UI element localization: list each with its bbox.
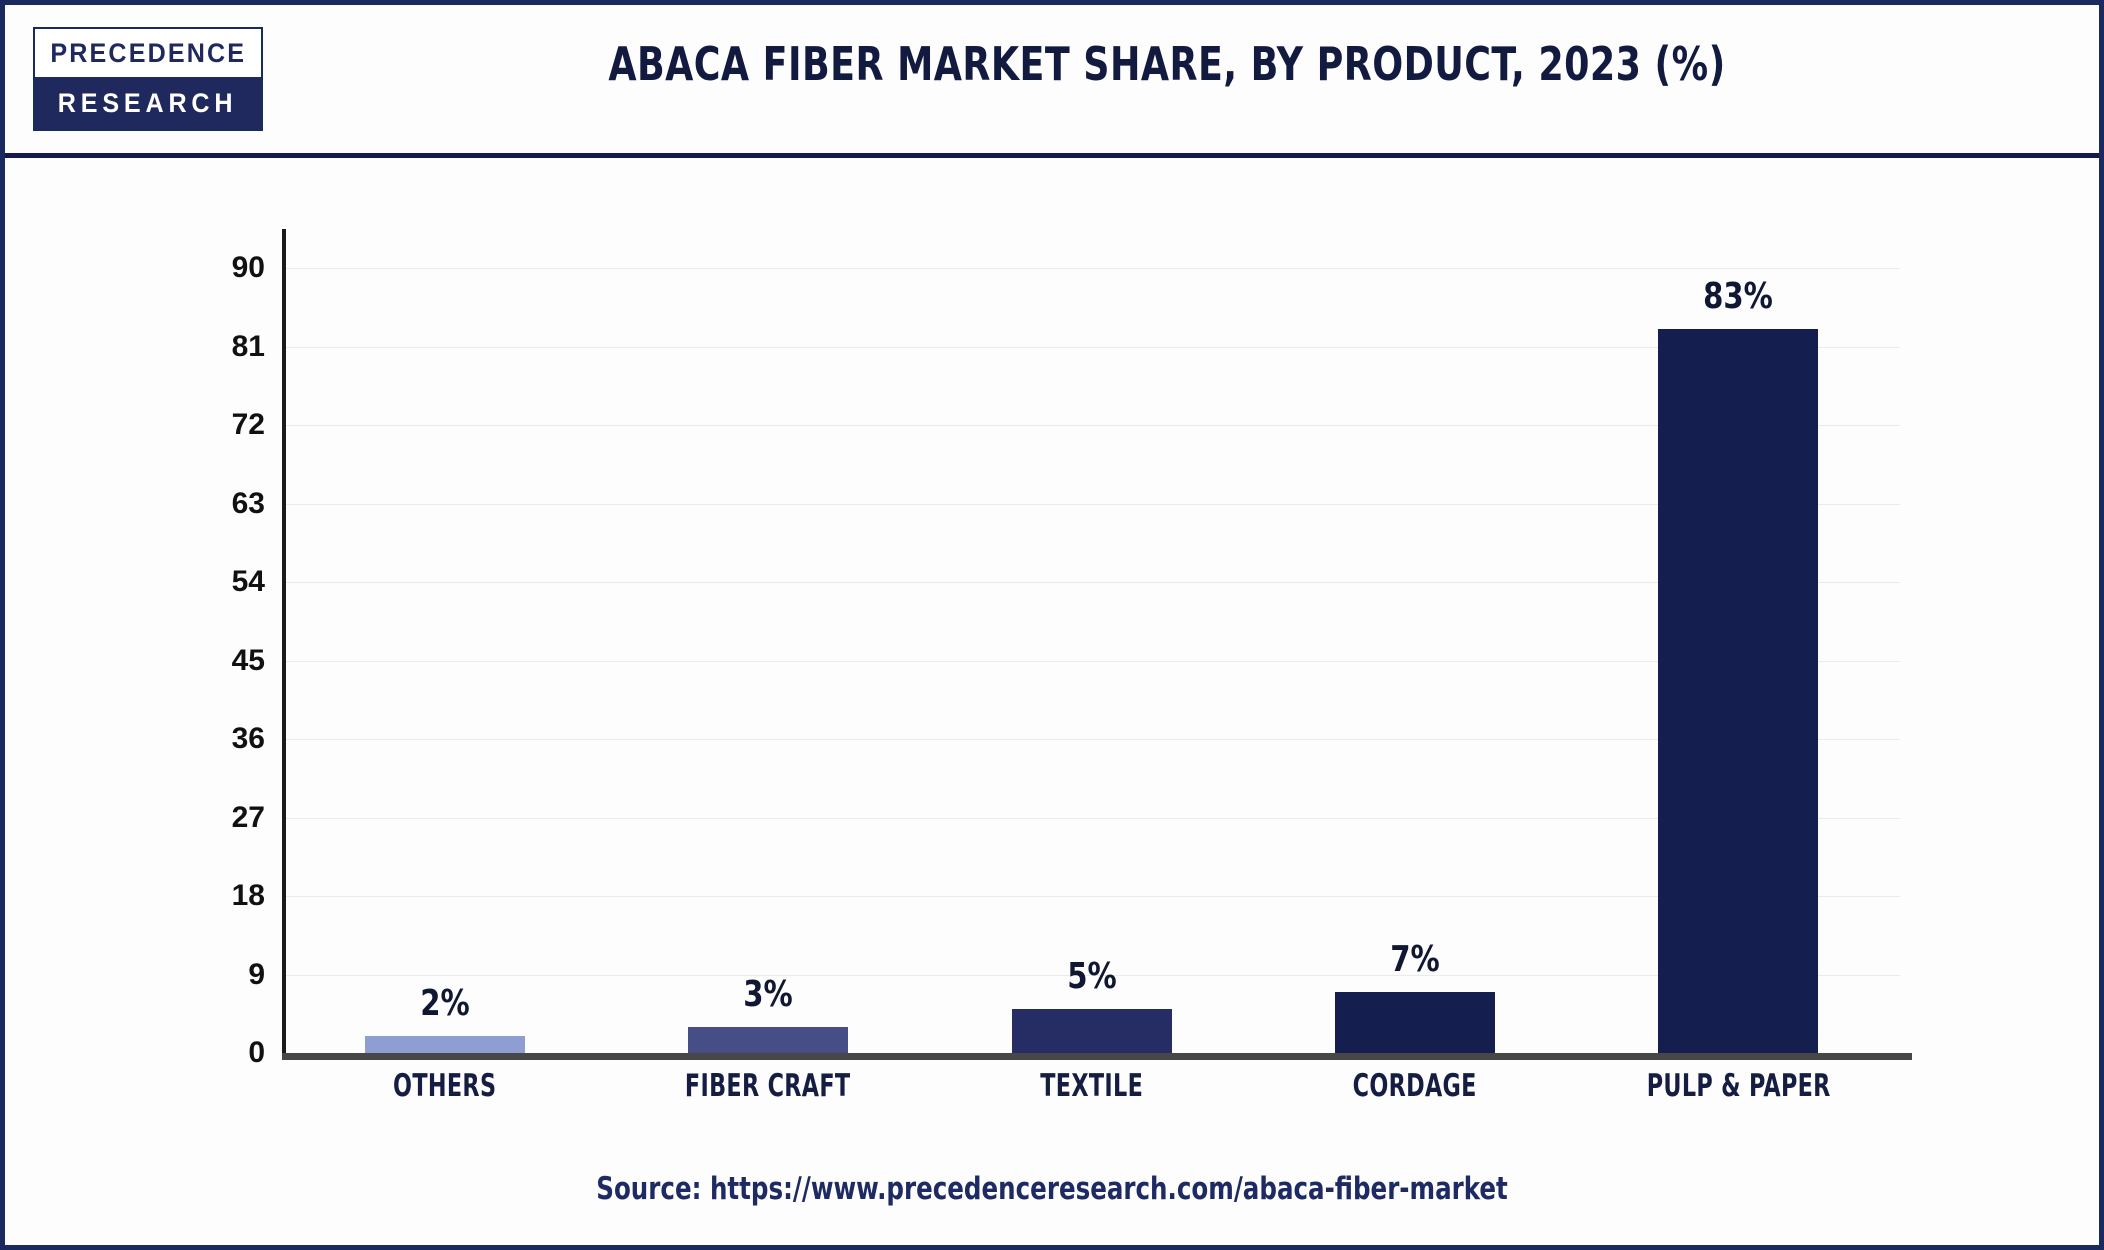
logo-precedence-text: PRECEDENCE — [50, 38, 246, 69]
logo-line-precedence: PRECEDENCE — [35, 29, 261, 77]
x-axis-label-others: OTHERS — [315, 1068, 574, 1104]
y-axis-tick-label: 36 — [145, 722, 265, 756]
bar-slot: 5% — [930, 229, 1253, 1053]
source-caption: Source: https://www.precedenceresearch.c… — [131, 1171, 1974, 1207]
bar-value-label: 2% — [420, 983, 469, 1024]
chart-header: PRECEDENCE RESEARCH ABACA FIBER MARKET S… — [5, 5, 2099, 158]
x-axis-category-labels: OTHERSFIBER CRAFTTEXTILECORDAGEPULP & PA… — [283, 1068, 1900, 1104]
bar-textile[interactable]: 5% — [1012, 1009, 1172, 1053]
y-axis-tick-label: 45 — [145, 644, 265, 678]
y-axis-tick-label: 27 — [145, 801, 265, 835]
x-axis-line — [282, 1053, 1912, 1060]
x-axis-label-textile: TEXTILE — [962, 1068, 1221, 1104]
bar-value-label: 7% — [1390, 939, 1439, 980]
bar-value-label: 3% — [743, 974, 792, 1015]
precedence-research-logo: PRECEDENCE RESEARCH — [33, 27, 263, 131]
logo-line-research: RESEARCH — [35, 77, 261, 129]
bar-slot: 7% — [1253, 229, 1576, 1053]
bar-slot: 83% — [1577, 229, 1900, 1053]
x-axis-label-cordage: CORDAGE — [1286, 1068, 1545, 1104]
y-axis-tick-label: 90 — [145, 251, 265, 285]
plot-region: 09182736455463728190 2%3%5%7%83% OTHERSF… — [5, 158, 2099, 1250]
x-axis-label-pulp-paper: PULP & PAPER — [1609, 1068, 1868, 1104]
logo-research-text: RESEARCH — [58, 88, 238, 119]
bar-slot: 2% — [283, 229, 606, 1053]
bar-value-label: 5% — [1067, 956, 1116, 997]
y-axis-tick-label: 54 — [145, 565, 265, 599]
page-title: ABACA FIBER MARKET SHARE, BY PRODUCT, 20… — [373, 37, 1961, 91]
y-axis-tick-label: 0 — [145, 1036, 265, 1070]
y-axis-tick-label: 63 — [145, 487, 265, 521]
y-axis-tick-labels: 09182736455463728190 — [130, 229, 265, 1053]
y-axis-tick-label: 18 — [145, 879, 265, 913]
bar-pulp-paper[interactable]: 83% — [1658, 329, 1818, 1053]
x-axis-label-fiber-craft: FIBER CRAFT — [639, 1068, 898, 1104]
bar-others[interactable]: 2% — [365, 1036, 525, 1053]
bar-cordage[interactable]: 7% — [1335, 992, 1495, 1053]
chart-figure: PRECEDENCE RESEARCH ABACA FIBER MARKET S… — [0, 0, 2104, 1250]
bar-value-label: 83% — [1703, 276, 1773, 317]
bar-slot: 3% — [606, 229, 929, 1053]
y-axis-tick-label: 72 — [145, 408, 265, 442]
bar-series: 2%3%5%7%83% — [283, 229, 1900, 1053]
y-axis-tick-label: 9 — [145, 958, 265, 992]
y-axis-tick-label: 81 — [145, 330, 265, 364]
bar-fiber-craft[interactable]: 3% — [688, 1027, 848, 1053]
